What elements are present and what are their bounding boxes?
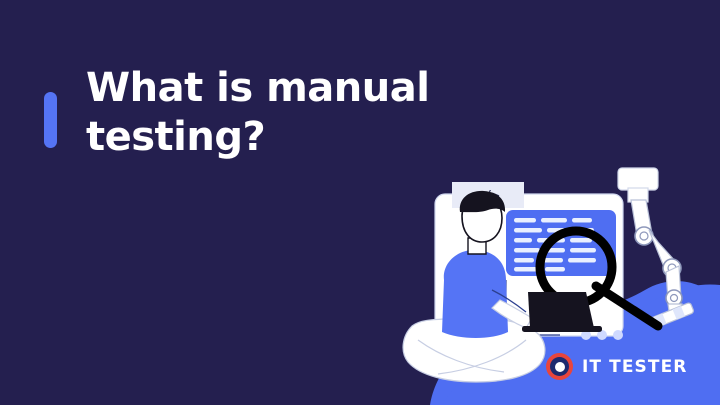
brand-logo[interactable]: IT TESTER [546,353,688,380]
slide-canvas: What is manual testing? </> [0,0,720,405]
headline-block: What is manual testing? [44,64,464,162]
brand-name: IT TESTER [582,357,688,377]
page-title: What is manual testing? [86,64,429,162]
accent-bar [44,92,57,148]
logo-mark-icon [546,353,573,380]
